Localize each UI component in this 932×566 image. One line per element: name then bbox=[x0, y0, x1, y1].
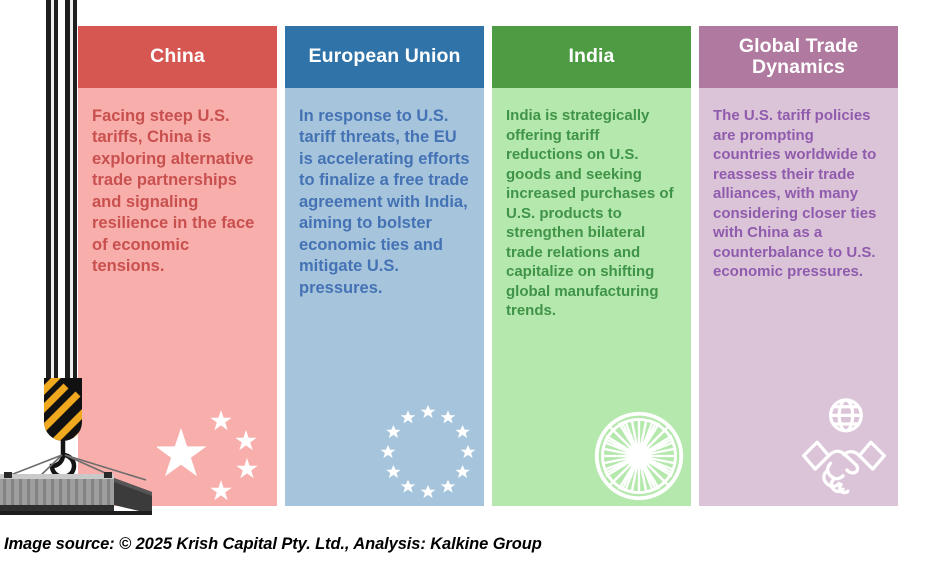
column-text-india: India is strategically offering tariff r… bbox=[506, 106, 677, 321]
crane-cables bbox=[46, 0, 77, 380]
column-body-india: India is strategically offering tariff r… bbox=[492, 88, 691, 506]
image-source-credit: Image source: © 2025 Krish Capital Pty. … bbox=[4, 535, 924, 554]
infographic-canvas: China Facing steep U.S. tariffs, China i… bbox=[0, 0, 932, 566]
ashoka-chakra-wheel-icon bbox=[591, 408, 687, 504]
column-title-european-union: European Union bbox=[285, 26, 484, 88]
column-european-union: European Union In response to U.S. tarif… bbox=[285, 26, 484, 506]
column-global-trade-dynamics: Global Trade Dynamics The U.S. tariff po… bbox=[699, 26, 898, 506]
column-title-india: India bbox=[492, 26, 691, 88]
shipping-container bbox=[0, 472, 152, 515]
column-text-global-trade-dynamics: The U.S. tariff policies are prompting c… bbox=[713, 106, 884, 282]
crane-lifting-shipping-container bbox=[0, 0, 200, 520]
comparison-columns: China Facing steep U.S. tariffs, China i… bbox=[78, 26, 928, 506]
column-body-european-union: In response to U.S. tariff threats, the … bbox=[285, 88, 484, 506]
globe-handshake-icon bbox=[796, 396, 892, 500]
column-body-global-trade-dynamics: The U.S. tariff policies are prompting c… bbox=[699, 88, 898, 506]
column-india: India India is strategically offering ta… bbox=[492, 26, 691, 506]
eu-flag-star-circle-icon bbox=[378, 402, 478, 502]
column-title-global-trade-dynamics: Global Trade Dynamics bbox=[699, 26, 898, 88]
column-text-european-union: In response to U.S. tariff threats, the … bbox=[299, 106, 470, 299]
